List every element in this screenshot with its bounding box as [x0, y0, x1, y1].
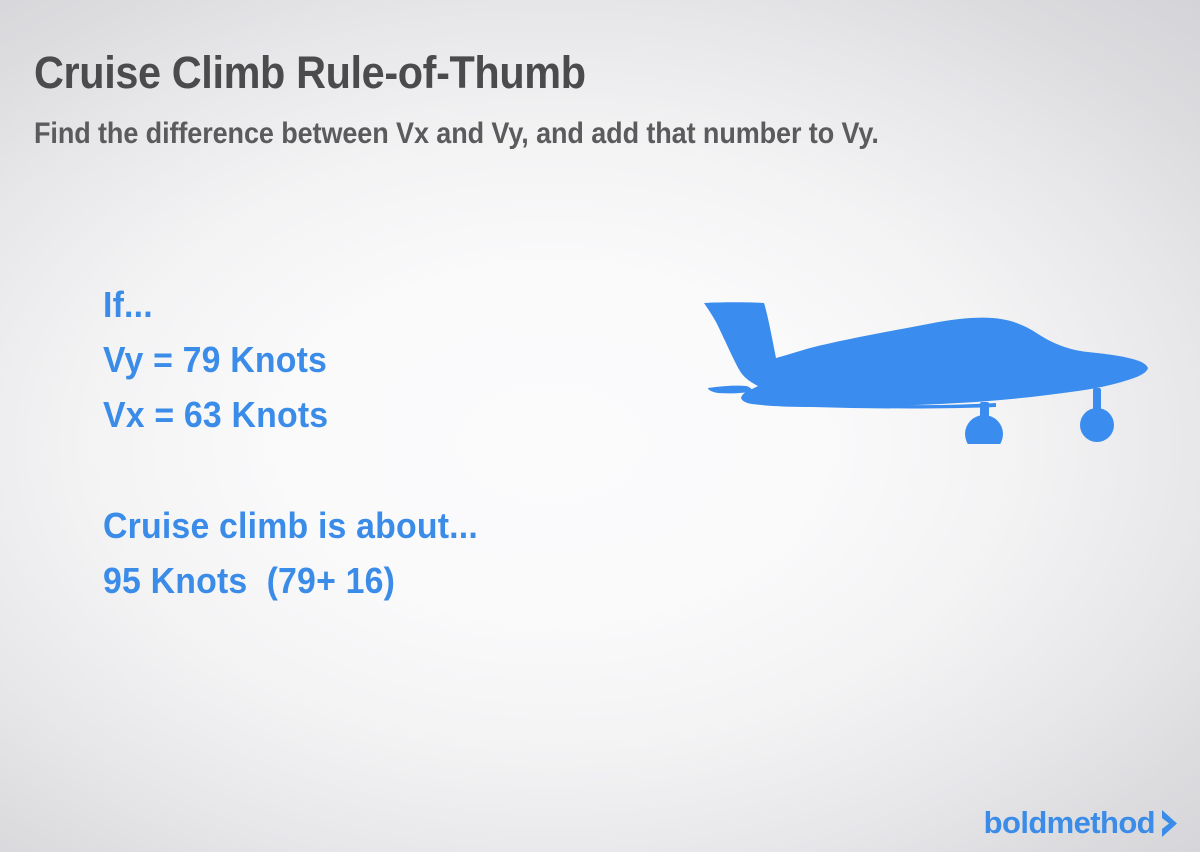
given-vy-value: Vy = 79 Knots [103, 332, 478, 387]
page-title: Cruise Climb Rule-of-Thumb [34, 46, 1064, 100]
given-values-group: If... Vy = 79 Knots Vx = 63 Knots [103, 277, 502, 442]
slide-canvas: Cruise Climb Rule-of-Thumb Find the diff… [0, 0, 1200, 852]
given-vx-value: Vx = 63 Knots [103, 387, 478, 442]
page-subtitle: Find the difference between Vx and Vy, a… [34, 116, 1042, 152]
stats-block: If... Vy = 79 Knots Vx = 63 Knots Cruise… [103, 277, 502, 608]
result-value: 95 Knots (79+ 16) [103, 553, 478, 608]
given-heading: If... [103, 277, 478, 332]
brand-name: boldmethod [984, 806, 1155, 840]
brand-logo[interactable]: boldmethod [984, 806, 1178, 840]
result-group: Cruise climb is about... 95 Knots (79+ 1… [103, 498, 502, 608]
chevron-right-icon [1161, 810, 1178, 837]
airplane-side-profile-icon [696, 294, 1156, 444]
result-heading: Cruise climb is about... [103, 498, 478, 553]
header: Cruise Climb Rule-of-Thumb Find the diff… [34, 46, 1154, 152]
